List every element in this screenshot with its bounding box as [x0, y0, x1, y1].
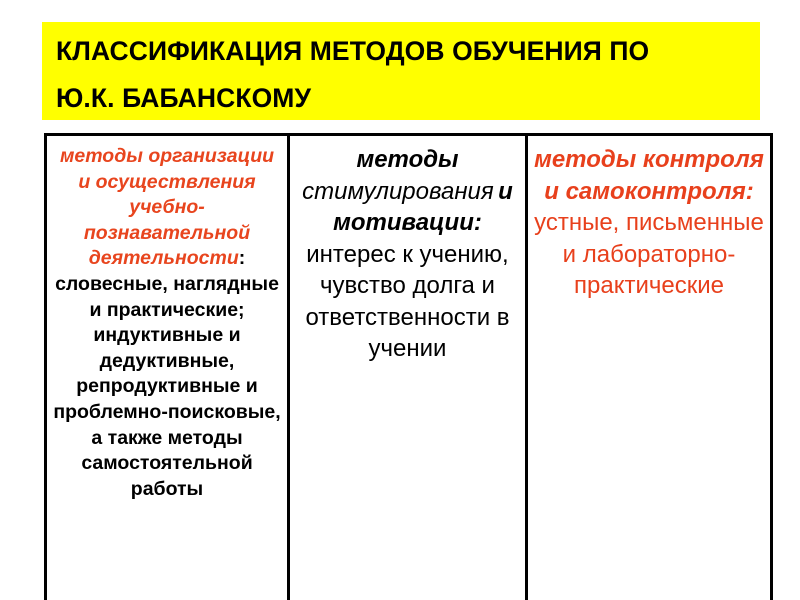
slide-canvas: КЛАССИФИКАЦИЯ МЕТОДОВ ОБУЧЕНИЯ ПО Ю.К. Б… [0, 0, 800, 600]
column-1-heading-separator: : [239, 247, 246, 269]
table-column-methods-of-control: методы контроля и самоконтроля: устные, … [528, 136, 770, 600]
page-title: КЛАССИФИКАЦИЯ МЕТОДОВ ОБУЧЕНИЯ ПО Ю.К. Б… [56, 28, 760, 122]
column-2-body: интерес к учению, чувство долга и ответс… [305, 241, 509, 363]
column-3-body: устные, письменные и лабораторно-практич… [534, 209, 764, 299]
column-1-body: словесные, наглядные и практические; инд… [53, 273, 280, 500]
title-banner: КЛАССИФИКАЦИЯ МЕТОДОВ ОБУЧЕНИЯ ПО Ю.К. Б… [42, 22, 760, 120]
column-2-heading-secondary: стимулирования [302, 178, 494, 205]
table-column-methods-of-stimulation: методы стимулирования и мотивации: интер… [290, 136, 528, 600]
classification-table: методы организации и осуществления учебн… [44, 133, 773, 600]
column-3-heading: методы контроля и самоконтроля: [534, 146, 764, 205]
column-2-heading-primary: методы [356, 146, 458, 173]
table-column-methods-of-organization: методы организации и осуществления учебн… [47, 136, 290, 600]
